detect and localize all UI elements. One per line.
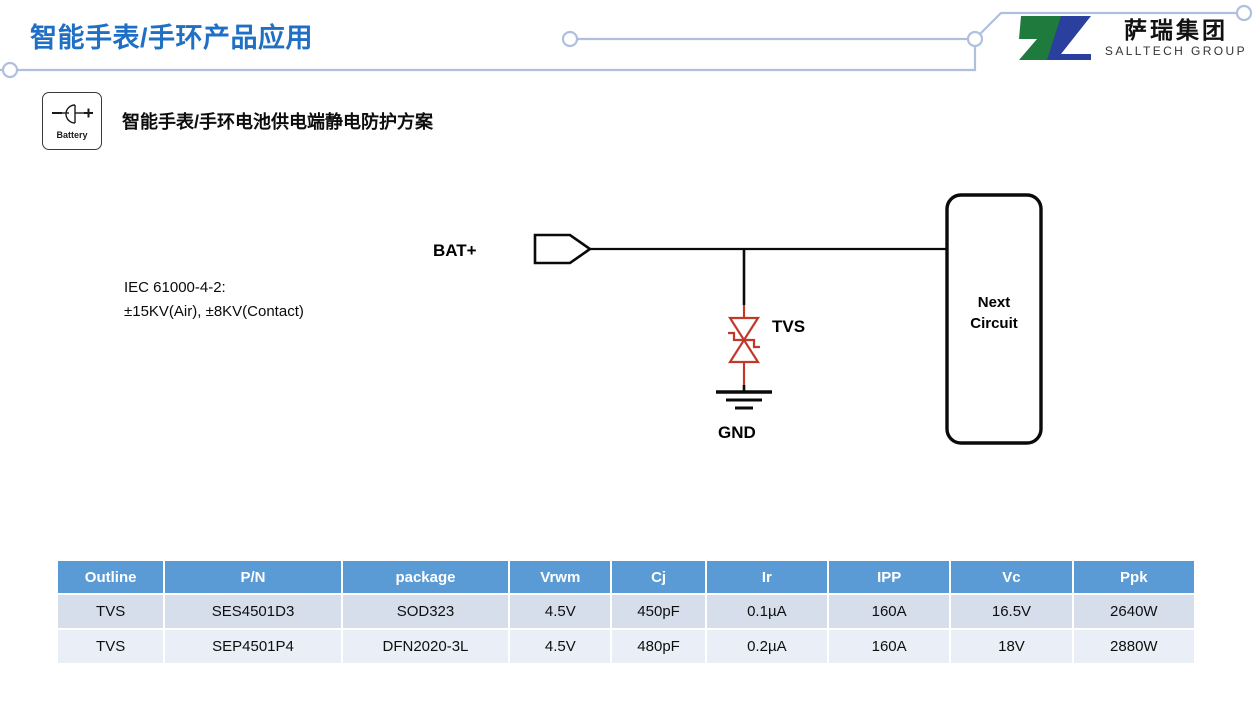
deco-node-junction	[968, 32, 982, 46]
next-circuit-label-line1: Next	[978, 294, 1011, 311]
page-title: 智能手表/手环产品应用	[30, 16, 313, 55]
brand-name-en: SALLTECH GROUP	[1105, 45, 1247, 57]
battery-symbol-icon	[48, 102, 96, 128]
slide-header: 智能手表/手环产品应用 萨瑞集团 SALLTECH GROUP	[0, 0, 1259, 92]
table-row: TVS SEP4501P4 DFN2020-3L 4.5V 480pF 0.2µ…	[58, 630, 1194, 663]
cell-pn: SEP4501P4	[165, 630, 340, 663]
gnd-label: GND	[718, 423, 756, 442]
cell-vc: 18V	[951, 630, 1071, 663]
parameter-table: Outline P/N package Vrwm Cj Ir IPP Vc Pp…	[56, 559, 1196, 665]
brand-text: 萨瑞集团 SALLTECH GROUP	[1105, 19, 1247, 57]
cell-ppk: 2640W	[1074, 595, 1194, 628]
cell-vrwm: 4.5V	[510, 630, 610, 663]
cell-ppk: 2880W	[1074, 630, 1194, 663]
battery-icon-label: Battery	[56, 130, 87, 140]
cell-cj: 450pF	[612, 595, 704, 628]
cell-package: DFN2020-3L	[343, 630, 508, 663]
col-header-vc: Vc	[951, 561, 1071, 593]
col-header-ipp: IPP	[829, 561, 949, 593]
cell-ipp: 160A	[829, 630, 949, 663]
table-header-row: Outline P/N package Vrwm Cj Ir IPP Vc Pp…	[58, 561, 1194, 593]
cell-outline: TVS	[58, 630, 163, 663]
salltech-logo-mark	[1015, 12, 1097, 64]
deco-node-left	[3, 63, 17, 77]
col-header-ir: Ir	[707, 561, 827, 593]
next-circuit-label-line2: Circuit	[970, 315, 1018, 332]
esd-spec-line-2: ±15KV(Air), ±8KV(Contact)	[124, 303, 304, 320]
battery-icon: Battery	[42, 92, 102, 150]
col-header-package: package	[343, 561, 508, 593]
esd-spec-line-1: IEC 61000-4-2:	[124, 279, 226, 296]
col-header-outline: Outline	[58, 561, 163, 593]
tvs-label: TVS	[772, 317, 805, 336]
section-heading-row: Battery 智能手表/手环电池供电端静电防护方案	[42, 92, 433, 150]
col-header-vrwm: Vrwm	[510, 561, 610, 593]
cell-cj: 480pF	[612, 630, 704, 663]
cell-outline: TVS	[58, 595, 163, 628]
brand-name-cn: 萨瑞集团	[1124, 19, 1228, 42]
cell-ipp: 160A	[829, 595, 949, 628]
col-header-ppk: Ppk	[1074, 561, 1194, 593]
deco-node-mid	[563, 32, 577, 46]
input-connector-symbol	[535, 235, 590, 263]
cell-ir: 0.2µA	[707, 630, 827, 663]
cell-pn: SES4501D3	[165, 595, 340, 628]
cell-vc: 16.5V	[951, 595, 1071, 628]
circuit-diagram: IEC 61000-4-2: ±15KV(Air), ±8KV(Contact)…	[0, 170, 1120, 480]
brand-logo: 萨瑞集团 SALLTECH GROUP	[1015, 12, 1247, 64]
col-header-cj: Cj	[612, 561, 704, 593]
cell-vrwm: 4.5V	[510, 595, 610, 628]
section-title: 智能手表/手环电池供电端静电防护方案	[122, 108, 433, 134]
table-row: TVS SES4501D3 SOD323 4.5V 450pF 0.1µA 16…	[58, 595, 1194, 628]
net-label-bat-plus: BAT+	[433, 241, 477, 260]
col-header-pn: P/N	[165, 561, 340, 593]
cell-package: SOD323	[343, 595, 508, 628]
cell-ir: 0.1µA	[707, 595, 827, 628]
